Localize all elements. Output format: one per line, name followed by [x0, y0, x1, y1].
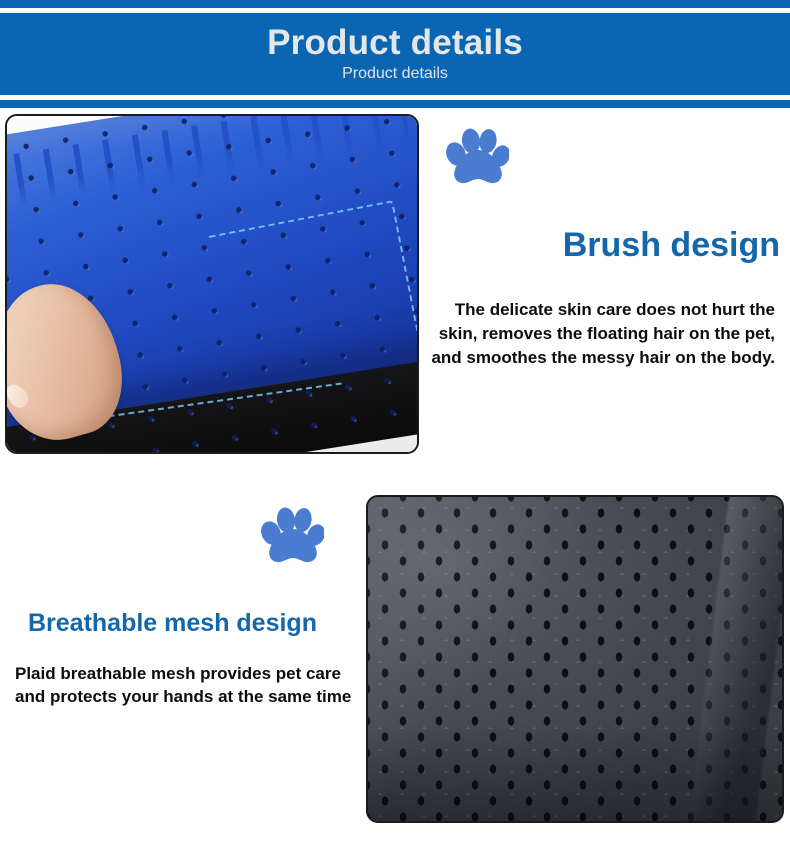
banner-main-bar: Product details Product details — [0, 13, 790, 95]
page-title: Product details — [267, 24, 523, 62]
section-brush-design: Brush design The delicate skin care does… — [0, 110, 790, 465]
brush-design-heading: Brush design — [425, 225, 780, 265]
breathable-mesh-body-text: Plaid breathable mesh provides pet care … — [15, 662, 360, 708]
banner-bottom-rule — [0, 100, 790, 108]
mesh-product-photo — [366, 495, 784, 823]
page-header-banner: Product details Product details — [0, 0, 790, 110]
breathable-mesh-heading: Breathable mesh design — [28, 607, 368, 639]
mesh-photo-shading — [368, 497, 782, 821]
banner-top-rule — [0, 0, 790, 8]
brush-design-body-text: The delicate skin care does not hurt the… — [425, 298, 775, 370]
page-subtitle: Product details — [342, 62, 448, 84]
paw-print-icon — [260, 507, 324, 574]
photo-thumbnail — [5, 380, 32, 411]
section-breathable-mesh: Breathable mesh design Plaid breathable … — [0, 465, 790, 843]
brush-product-photo — [5, 114, 419, 454]
paw-print-icon — [445, 128, 509, 195]
mesh-text-block: Breathable mesh design Plaid breathable … — [10, 485, 360, 785]
brush-text-block: Brush design The delicate skin care does… — [425, 120, 780, 450]
